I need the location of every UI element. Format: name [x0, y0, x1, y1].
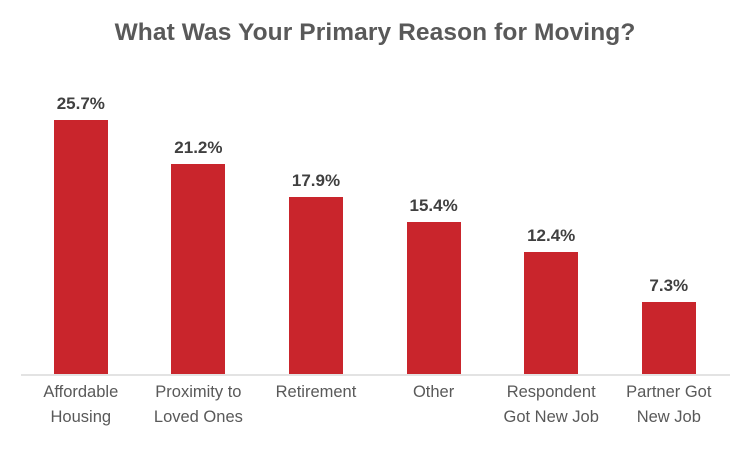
x-axis-label-line: Partner Got	[610, 380, 728, 405]
bar-group: 17.9%	[257, 70, 375, 375]
bar-group: 15.4%	[375, 70, 493, 375]
x-axis-label-line: Proximity to	[140, 380, 258, 405]
bar-value-label: 15.4%	[375, 196, 493, 216]
x-axis-label-line: New Job	[610, 405, 728, 430]
x-axis-label: Proximity toLoved Ones	[140, 380, 258, 430]
bar-value-label: 7.3%	[610, 276, 728, 296]
chart-title: What Was Your Primary Reason for Moving?	[0, 19, 750, 47]
bar-group: 21.2%	[140, 70, 258, 375]
x-axis-label-line: Affordable	[22, 380, 140, 405]
bar-group: 25.7%	[22, 70, 140, 375]
x-axis-label: RespondentGot New Job	[492, 380, 610, 430]
bar-value-label: 17.9%	[257, 171, 375, 191]
x-axis-label-line: Other	[375, 380, 493, 405]
bar[interactable]	[524, 252, 578, 375]
x-axis-label-line: Got New Job	[492, 405, 610, 430]
bar-value-label: 12.4%	[492, 226, 610, 246]
x-axis-label-line: Respondent	[492, 380, 610, 405]
x-axis-line	[21, 374, 730, 376]
x-axis-label: AffordableHousing	[22, 380, 140, 430]
bar[interactable]	[642, 302, 696, 375]
x-axis-label: Other	[375, 380, 493, 405]
bar[interactable]	[289, 197, 343, 375]
x-axis-label-line: Loved Ones	[140, 405, 258, 430]
bar-group: 12.4%	[492, 70, 610, 375]
bar-chart: What Was Your Primary Reason for Moving?…	[0, 0, 750, 449]
x-axis-label-line: Housing	[22, 405, 140, 430]
bar-value-label: 25.7%	[22, 94, 140, 114]
bar-value-label: 21.2%	[140, 138, 258, 158]
x-axis-label-line: Retirement	[257, 380, 375, 405]
bar[interactable]	[54, 120, 108, 375]
bar-group: 7.3%	[610, 70, 728, 375]
bar[interactable]	[407, 222, 461, 375]
x-axis-label: Retirement	[257, 380, 375, 405]
plot-area: 25.7%21.2%17.9%15.4%12.4%7.3%	[0, 70, 750, 375]
bar[interactable]	[171, 164, 225, 375]
x-axis-label: Partner GotNew Job	[610, 380, 728, 430]
